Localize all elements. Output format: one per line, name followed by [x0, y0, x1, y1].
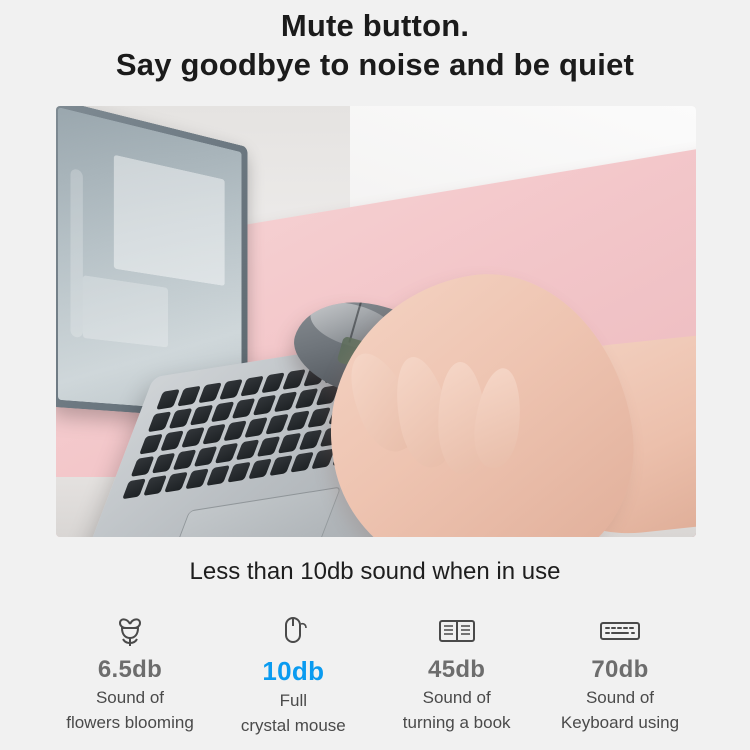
headline-line-2: Say goodbye to noise and be quiet — [0, 45, 750, 84]
laptop-window-1 — [114, 155, 225, 286]
mouse-icon — [213, 608, 373, 652]
stat-value: 45db — [377, 656, 537, 684]
stat-value: 6.5db — [50, 656, 210, 684]
product-feature-page: Mute button. Say goodbye to noise and be… — [0, 0, 750, 750]
stat-book: 45db Sound of turning a book — [377, 608, 537, 737]
stat-desc-line2: Keyboard using — [540, 712, 700, 734]
stat-keyboard: 70db Sound of Keyboard using — [540, 608, 700, 737]
stat-desc-line1: Sound of — [540, 687, 700, 709]
stat-value: 10db — [213, 656, 373, 687]
flower-icon — [50, 608, 210, 652]
laptop-dock — [70, 168, 82, 338]
stat-desc-line1: Sound of — [50, 687, 210, 709]
stat-desc-line2: turning a book — [377, 712, 537, 734]
subheadline: Less than 10db sound when in use — [0, 558, 750, 586]
sound-comparison-row: 6.5db Sound of flowers blooming 10db Ful… — [50, 608, 700, 737]
stat-desc-line2: flowers blooming — [50, 712, 210, 734]
headline-line-1: Mute button. — [0, 6, 750, 45]
headline-block: Mute button. Say goodbye to noise and be… — [0, 0, 750, 84]
keyboard-icon — [540, 608, 700, 652]
book-icon — [377, 608, 537, 652]
stat-mouse: 10db Full crystal mouse — [213, 608, 373, 737]
stat-value: 70db — [540, 656, 700, 684]
stat-flower: 6.5db Sound of flowers blooming — [50, 608, 210, 737]
stat-desc-line2: crystal mouse — [213, 715, 373, 737]
stat-desc-line1: Sound of — [377, 687, 537, 709]
laptop-window-2 — [82, 275, 167, 348]
stat-desc-line1: Full — [213, 690, 373, 712]
product-photo — [56, 106, 696, 537]
